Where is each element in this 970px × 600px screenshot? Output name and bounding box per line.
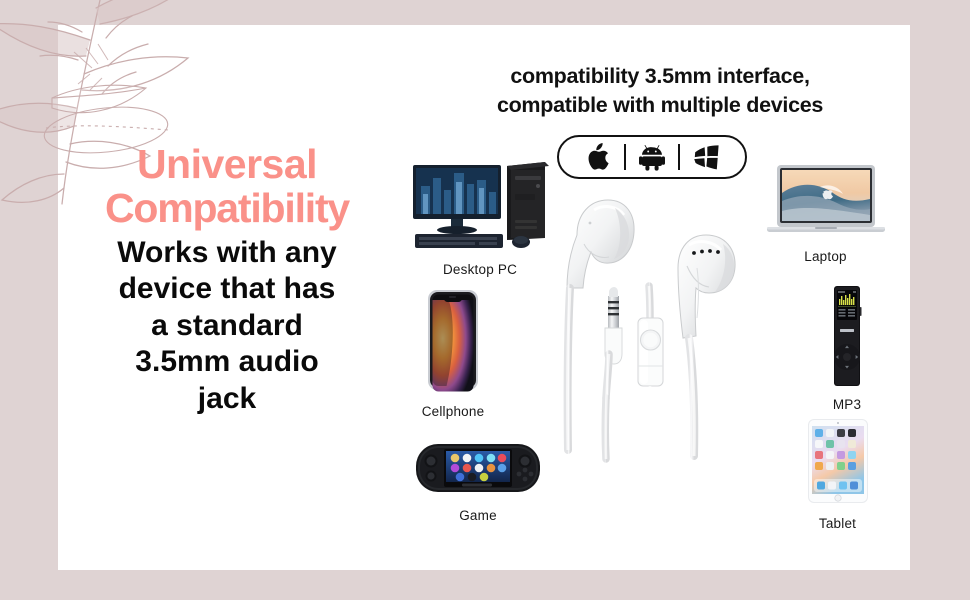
tablet-icon xyxy=(804,418,872,506)
product-header-line-2: compatible with multiple devices xyxy=(455,91,865,120)
handheld-game-console-icon xyxy=(414,440,542,498)
subcopy-line-4: 3.5mm audio xyxy=(62,344,392,381)
headline-line-1: Universal xyxy=(62,142,392,186)
device-label-laptop: Laptop xyxy=(758,249,893,264)
right-earbud xyxy=(678,235,735,338)
poster-canvas: Universal Compatibility Works with any d… xyxy=(0,0,970,600)
device-tile-cellphone: Cellphone xyxy=(398,288,508,419)
cellphone-icon xyxy=(420,288,486,394)
os-compatibility-badge xyxy=(557,135,747,179)
left-copy-block: Universal Compatibility Works with any d… xyxy=(62,142,392,418)
apple-icon xyxy=(572,142,624,172)
device-label-mp3: MP3 xyxy=(797,397,897,412)
3.5mm-jack xyxy=(605,287,622,459)
windows-icon xyxy=(680,142,732,172)
subcopy-line-3: a standard xyxy=(62,308,392,345)
subcopy-line-2: device that has xyxy=(62,271,392,308)
headline-line-2: Compatibility xyxy=(62,186,392,230)
device-tile-mp3: MP3 xyxy=(797,285,897,412)
device-tile-laptop: Laptop xyxy=(758,163,893,264)
product-header: compatibility 3.5mm interface, compatibl… xyxy=(455,62,865,120)
product-header-line-1: compatibility 3.5mm interface, xyxy=(455,62,865,91)
mp3-player-icon xyxy=(824,285,870,387)
subcopy-line-1: Works with any xyxy=(62,235,392,272)
subcopy-block: Works with any device that has a standar… xyxy=(62,235,392,418)
inline-remote xyxy=(638,286,663,460)
device-label-cellphone: Cellphone xyxy=(398,404,508,419)
device-label-tablet: Tablet xyxy=(795,516,880,531)
left-earbud xyxy=(567,200,634,288)
device-tile-game: Game xyxy=(408,440,548,523)
device-label-game: Game xyxy=(408,508,548,523)
subcopy-line-5: jack xyxy=(62,381,392,418)
laptop-icon xyxy=(765,163,887,239)
device-tile-tablet: Tablet xyxy=(795,418,880,531)
wired-earbuds-product-image xyxy=(537,188,752,463)
android-icon xyxy=(626,142,678,172)
